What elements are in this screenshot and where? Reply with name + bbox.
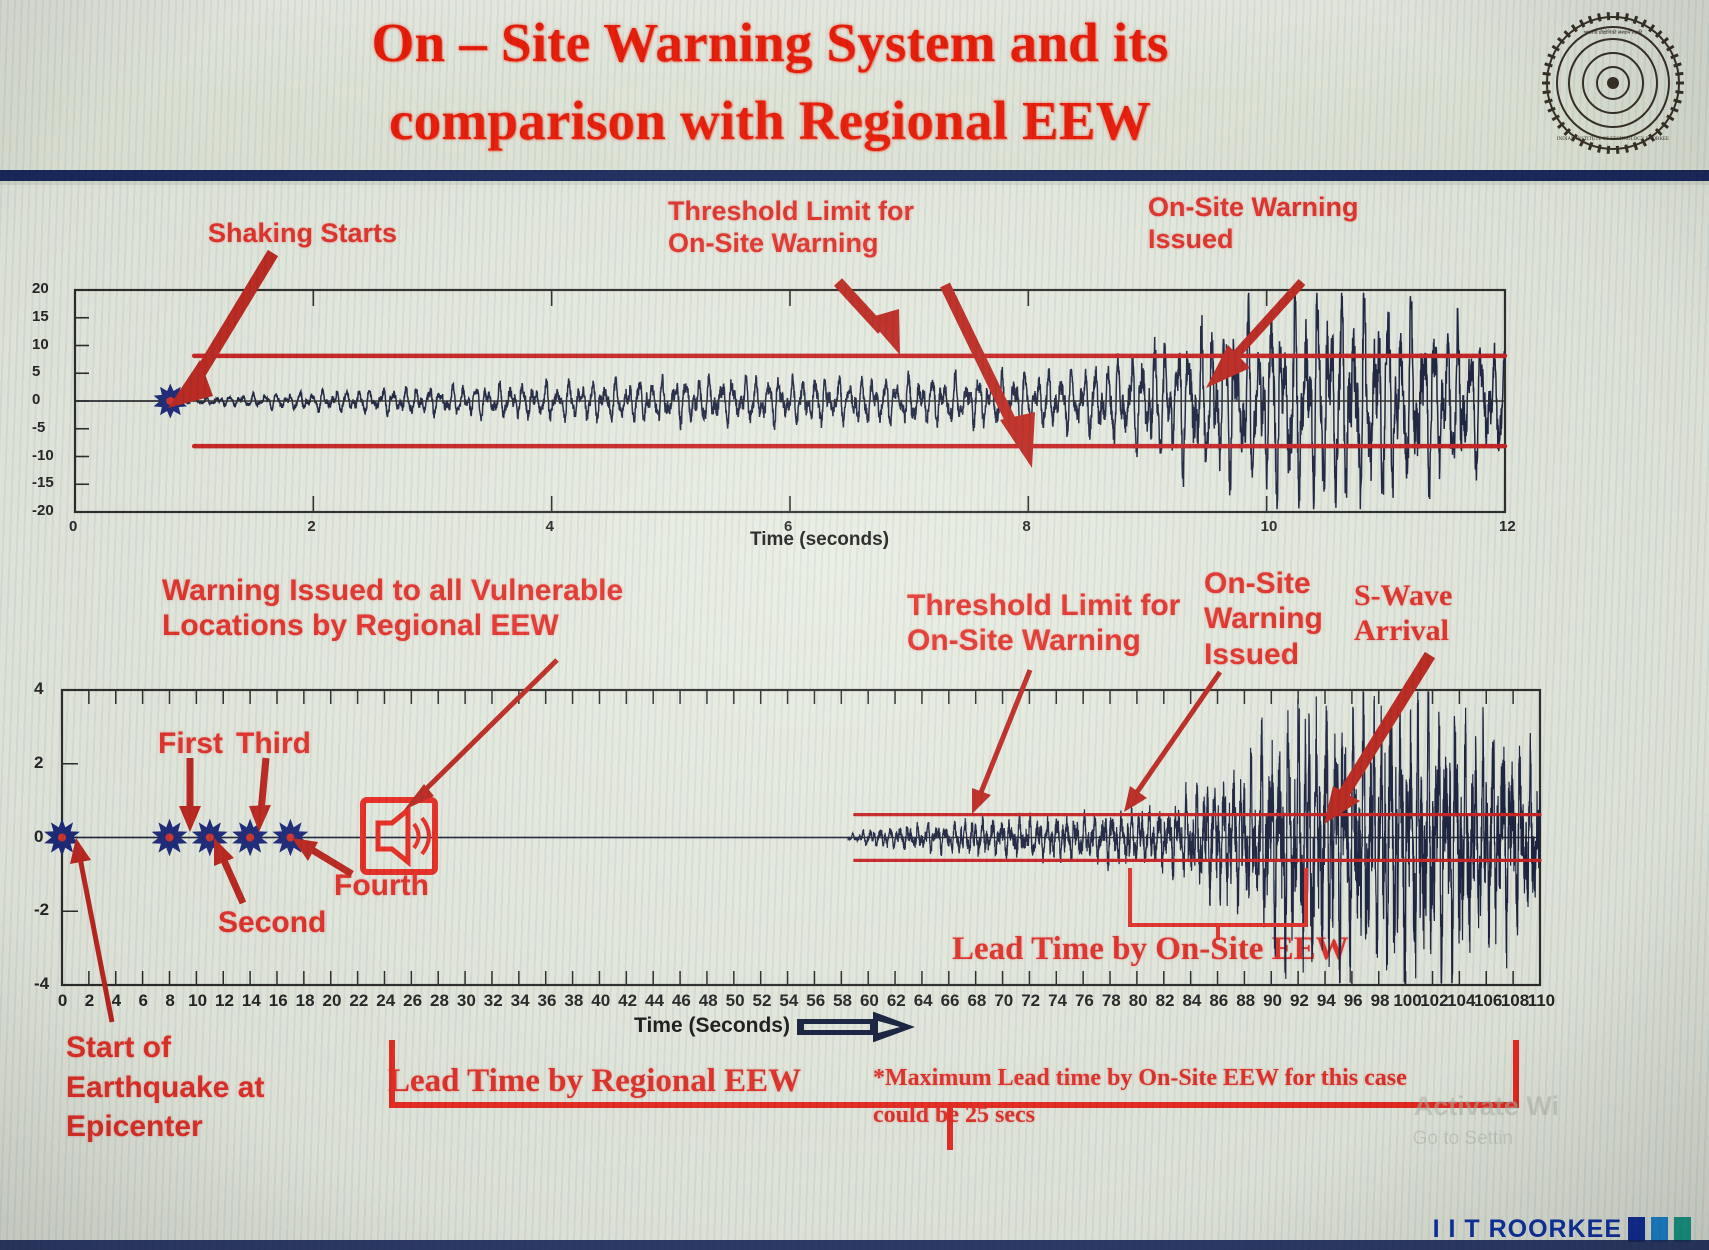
bottom-x-tick-76: 76 <box>1075 991 1094 1011</box>
activate-windows-watermark-sub: Go to Settin <box>1413 1128 1513 1150</box>
bottom-x-tick-32: 32 <box>484 991 503 1011</box>
bottom-x-tick-50: 50 <box>726 991 745 1011</box>
bottom-x-tick-92: 92 <box>1290 991 1309 1011</box>
bottom-x-tick-26: 26 <box>403 991 422 1011</box>
bottom-x-tick-10: 10 <box>188 991 207 1011</box>
arrow-second <box>214 838 243 903</box>
bottom-x-tick-104: 104 <box>1447 991 1475 1011</box>
bottom-x-tick-90: 90 <box>1263 991 1282 1011</box>
bottom-x-tick-88: 88 <box>1236 991 1255 1011</box>
bottom-x-tick-94: 94 <box>1317 991 1336 1011</box>
bottom-y-tick-0: 0 <box>34 827 43 847</box>
bottom-x-tick-24: 24 <box>376 991 395 1011</box>
right-arrow-icon <box>796 1012 916 1042</box>
bottom-x-tick-48: 48 <box>699 991 718 1011</box>
bottom-x-tick-84: 84 <box>1182 991 1201 1011</box>
bottom-x-tick-56: 56 <box>806 991 825 1011</box>
bottom-x-tick-58: 58 <box>833 991 852 1011</box>
bottom-x-tick-36: 36 <box>538 991 557 1011</box>
bottom-x-tick-86: 86 <box>1209 991 1228 1011</box>
bottom-x-tick-52: 52 <box>752 991 771 1011</box>
bottom-x-tick-46: 46 <box>672 991 691 1011</box>
bottom-x-tick-70: 70 <box>994 991 1013 1011</box>
bottom-x-tick-22: 22 <box>349 991 368 1011</box>
bottom-x-tick-100: 100 <box>1393 991 1421 1011</box>
brace-lead-time-onsite <box>1130 868 1306 940</box>
bottom-seismogram-chart <box>0 0 1709 1250</box>
bottom-x-tick-82: 82 <box>1156 991 1175 1011</box>
arrow-threshold-limit-bottom-chart <box>972 670 1030 814</box>
bottom-x-tick-0: 0 <box>58 991 67 1011</box>
slide-canvas: On – Site Warning System and its compari… <box>0 0 1709 1250</box>
bottom-x-tick-96: 96 <box>1344 991 1363 1011</box>
arrow-first <box>179 758 201 832</box>
bottom-x-tick-54: 54 <box>779 991 798 1011</box>
bottom-x-tick-62: 62 <box>887 991 906 1011</box>
bottom-x-tick-20: 20 <box>323 991 342 1011</box>
bottom-x-tick-30: 30 <box>457 991 476 1011</box>
bottom-y-tick--4: -4 <box>34 974 49 994</box>
bottom-y-tick--2: -2 <box>34 900 49 920</box>
bottom-x-tick-78: 78 <box>1102 991 1121 1011</box>
bottom-x-tick-12: 12 <box>215 991 234 1011</box>
arrow-s-wave-arrival <box>1324 655 1430 824</box>
footer-divider <box>0 1240 1709 1250</box>
bottom-x-tick-38: 38 <box>564 991 583 1011</box>
bottom-x-tick-80: 80 <box>1129 991 1148 1011</box>
bottom-x-tick-44: 44 <box>645 991 664 1011</box>
bottom-x-tick-42: 42 <box>618 991 637 1011</box>
bottom-x-tick-60: 60 <box>860 991 879 1011</box>
bottom-x-tick-66: 66 <box>941 991 960 1011</box>
arrow-third <box>249 758 271 832</box>
brand-square-1 <box>1628 1217 1645 1242</box>
bottom-x-tick-18: 18 <box>296 991 315 1011</box>
bottom-x-tick-8: 8 <box>165 991 174 1011</box>
bottom-x-tick-74: 74 <box>1048 991 1067 1011</box>
bottom-x-tick-6: 6 <box>139 991 148 1011</box>
bottom-x-tick-34: 34 <box>511 991 530 1011</box>
bottom-x-tick-4: 4 <box>112 991 121 1011</box>
activate-windows-watermark: Activate Wi <box>1414 1091 1559 1122</box>
bottom-x-tick-2: 2 <box>85 991 94 1011</box>
bottom-x-tick-64: 64 <box>914 991 933 1011</box>
bottom-x-tick-40: 40 <box>591 991 610 1011</box>
bottom-chart-x-axis-label: Time (Seconds) <box>634 1014 790 1038</box>
bottom-x-tick-98: 98 <box>1371 991 1390 1011</box>
bottom-x-tick-102: 102 <box>1420 991 1448 1011</box>
bottom-x-tick-110: 110 <box>1528 991 1555 1011</box>
bottom-x-tick-68: 68 <box>967 991 986 1011</box>
bottom-y-tick-2: 2 <box>34 753 43 773</box>
bottom-y-tick-4: 4 <box>34 679 43 699</box>
regional-warning-broadcast-icon <box>363 800 435 872</box>
bottom-x-tick-72: 72 <box>1021 991 1040 1011</box>
bottom-x-tick-14: 14 <box>242 991 261 1011</box>
bottom-x-tick-16: 16 <box>269 991 288 1011</box>
brand-square-2 <box>1651 1217 1668 1242</box>
bottom-x-tick-108: 108 <box>1501 991 1529 1011</box>
arrow-regional-eew-to-icon <box>404 660 557 810</box>
brace-lead-time-regional <box>392 1040 1516 1150</box>
brand-square-3 <box>1674 1217 1691 1242</box>
arrow-onsite-warning-issued-bottom-chart <box>1124 672 1220 812</box>
arrow-fourth <box>292 838 352 874</box>
bottom-x-tick-106: 106 <box>1474 991 1502 1011</box>
bottom-x-tick-28: 28 <box>430 991 449 1011</box>
